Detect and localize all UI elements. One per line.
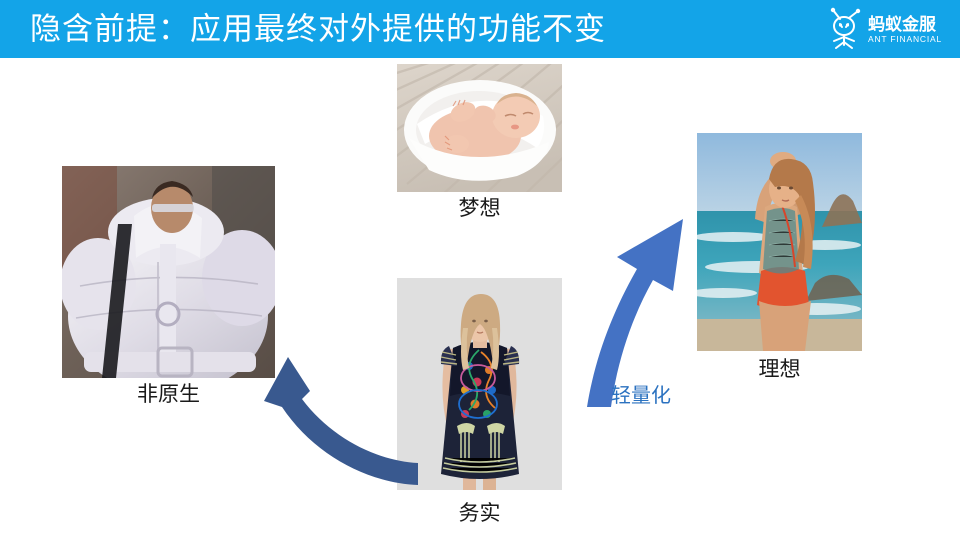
image-dream [397,64,562,192]
page-title: 隐含前提：应用最终对外提供的功能不变 [30,14,606,45]
caption-nonnative: 非原生 [62,384,275,405]
image-pragmatic [397,278,562,490]
slide: 隐含前提：应用最终对外提供的功能不变 [0,0,960,540]
arrow-up-to-ideal [565,207,695,407]
caption-dream: 梦想 [397,198,562,219]
image-ideal [697,133,862,351]
logo-cn-text: 蚂蚁金服 [868,14,937,34]
caption-pragmatic: 务实 [397,503,562,524]
arrow-left-to-nonnative [258,355,418,485]
ant-financial-logo: 蚂蚁金服 ANT FINANCIAL [820,6,948,52]
slide-header-bar: 隐含前提：应用最终对外提供的功能不变 [0,0,960,58]
image-nonnative [62,166,275,378]
arrow-label-lightweight: 轻量化 [611,386,671,406]
caption-ideal: 理想 [697,359,862,380]
logo-en-text: ANT FINANCIAL [868,34,942,44]
